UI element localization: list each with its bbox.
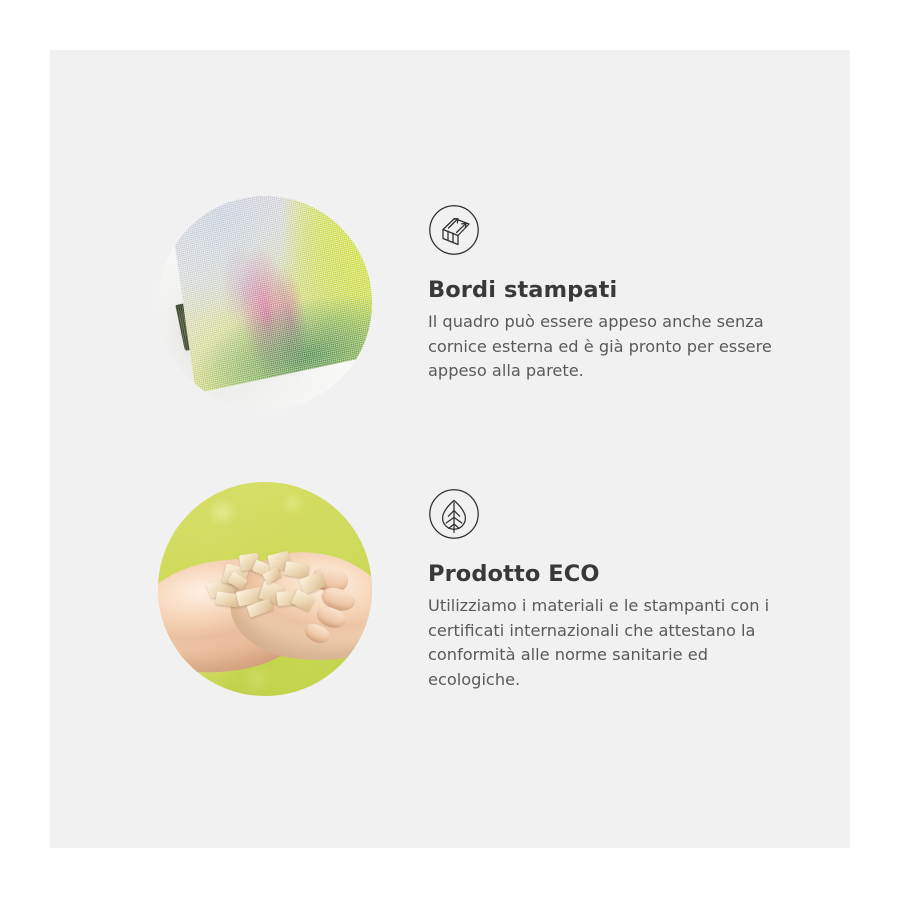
eco-product-text-block: Prodotto ECO Utilizziamo i materiali e l… xyxy=(428,488,818,692)
feature-title: Prodotto ECO xyxy=(428,562,818,588)
canvas-wrapped-edges-icon xyxy=(428,204,480,256)
feature-title: Bordi stampati xyxy=(428,278,818,304)
feature-description: Utilizziamo i materiali e le stampanti c… xyxy=(428,594,796,693)
canvas-corner-photo xyxy=(158,196,372,410)
feature-description: Il quadro può essere appeso anche senza … xyxy=(428,310,796,384)
content-panel: Bordi stampati Il quadro può essere appe… xyxy=(50,50,850,848)
canvas-photo-background xyxy=(158,196,372,410)
hands-holding-wood-chips-photo xyxy=(158,482,372,696)
feature-printed-edges: Bordi stampati Il quadro può essere appe… xyxy=(50,196,850,466)
leaf-icon xyxy=(428,488,480,540)
printed-edges-text-block: Bordi stampati Il quadro può essere appe… xyxy=(428,204,818,384)
eco-photo-background xyxy=(158,482,372,696)
feature-eco-product: Prodotto ECO Utilizziamo i materiali e l… xyxy=(50,482,850,752)
product-feature-page: Bordi stampati Il quadro può essere appe… xyxy=(0,0,900,900)
wood-chips-pile xyxy=(203,548,336,621)
